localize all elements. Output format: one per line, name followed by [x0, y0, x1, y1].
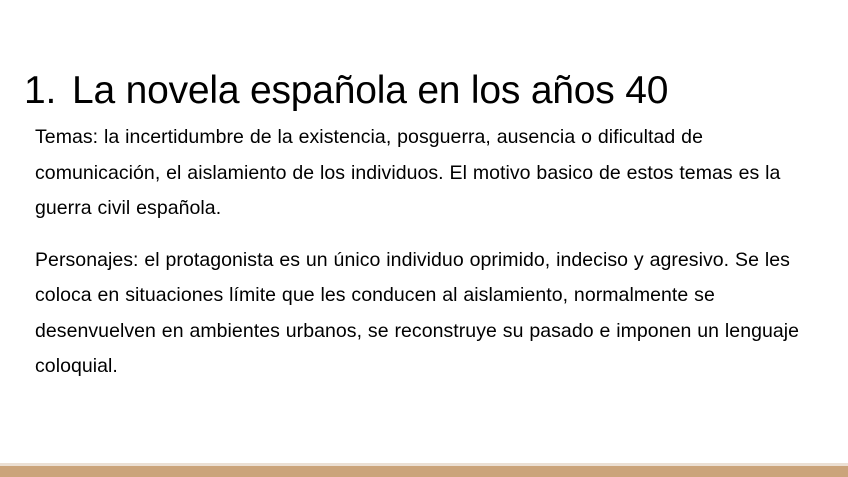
- slide-body: Temas: la incertidumbre de la existencia…: [35, 120, 810, 385]
- paragraph-personajes: Personajes: el protagonista es un único …: [35, 243, 810, 385]
- footer-accent-bar: [0, 466, 848, 477]
- paragraph-temas: Temas: la incertidumbre de la existencia…: [35, 120, 810, 227]
- page-title: 1.La novela española en los años 40: [24, 68, 824, 114]
- title-text: La novela española en los años 40: [72, 69, 668, 112]
- title-number: 1.: [24, 68, 72, 114]
- slide-canvas: 1.La novela española en los años 40 Tema…: [0, 0, 848, 477]
